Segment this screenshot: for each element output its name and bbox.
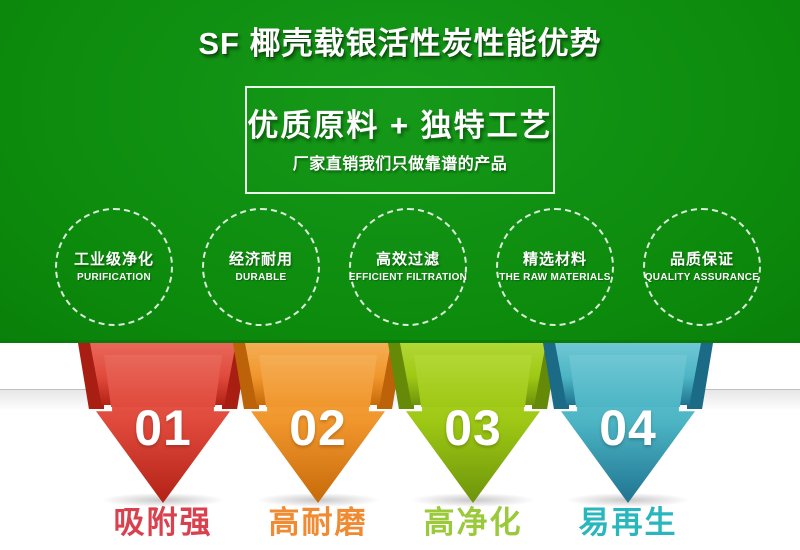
step-arrow-02: 02 xyxy=(233,343,403,503)
feature-circle-quality-assurance: 品质保证 QUALITY ASSURANCE xyxy=(643,208,761,326)
feature-label-cn: 精选材料 xyxy=(523,251,587,270)
feature-label-cn: 经济耐用 xyxy=(229,251,293,270)
feature-circle-efficient-filtration: 高效过滤 EFFICIENT FILTRATION xyxy=(349,208,467,326)
step-number: 01 xyxy=(78,399,248,457)
step-number: 02 xyxy=(233,399,403,457)
poster-root: SF 椰壳载银活性炭性能优势 优质原料 + 独特工艺 厂家直销我们只做靠谱的产品… xyxy=(0,0,800,550)
step-label-01: 吸附强 xyxy=(78,497,248,542)
page-title: SF 椰壳载银活性炭性能优势 xyxy=(0,18,800,63)
feature-label-en: DURABLE xyxy=(236,272,287,283)
slogan-main-text: 优质原料 + 独特工艺 xyxy=(247,100,553,145)
step-label-03: 高净化 xyxy=(388,497,558,542)
step-number: 04 xyxy=(543,399,713,457)
feature-circle-row: 工业级净化 PURIFICATION 经济耐用 DURABLE 高效过滤 EFF… xyxy=(0,208,800,333)
step-number: 03 xyxy=(388,399,558,457)
slogan-sub-text: 厂家直销我们只做靠谱的产品 xyxy=(247,150,553,174)
feature-label-en: THE RAW MATERIALS xyxy=(499,272,611,283)
step-label-02: 高耐磨 xyxy=(233,497,403,542)
slogan-box: 优质原料 + 独特工艺 厂家直销我们只做靠谱的产品 xyxy=(245,86,555,194)
feature-label-cn: 工业级净化 xyxy=(74,251,154,270)
step-label-04: 易再生 xyxy=(543,497,713,542)
feature-circle-purification: 工业级净化 PURIFICATION xyxy=(55,208,173,326)
feature-label-cn: 高效过滤 xyxy=(376,251,440,270)
feature-label-en: EFFICIENT FILTRATION xyxy=(349,272,467,283)
feature-circle-durable: 经济耐用 DURABLE xyxy=(202,208,320,326)
feature-label-en: PURIFICATION xyxy=(77,272,151,283)
step-arrow-03: 03 xyxy=(388,343,558,503)
feature-label-cn: 品质保证 xyxy=(670,251,734,270)
feature-circle-raw-materials: 精选材料 THE RAW MATERIALS xyxy=(496,208,614,326)
step-arrow-01: 01 xyxy=(78,343,248,503)
step-arrow-04: 04 xyxy=(543,343,713,503)
step-label-row: 吸附强 高耐磨 高净化 易再生 xyxy=(0,497,800,550)
feature-label-en: QUALITY ASSURANCE xyxy=(645,272,760,283)
